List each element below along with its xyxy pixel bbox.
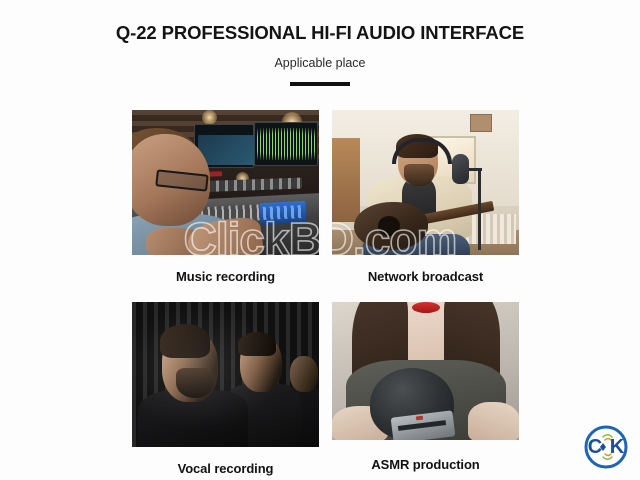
use-case-cell-music-recording: Music recording [132, 110, 319, 284]
mic-stand-shape [478, 168, 481, 250]
photo-vocal-recording [132, 302, 319, 447]
svg-text:C: C [588, 436, 602, 458]
caption-vocal-recording: Vocal recording [132, 447, 319, 476]
page-subtitle: Applicable place [0, 43, 640, 70]
grid-row-bottom: Vocal recording ASMR production [132, 302, 519, 476]
microphone-icon [452, 154, 469, 184]
room-door-shape [332, 138, 360, 222]
page-title: Q-22 PROFESSIONAL HI-FI AUDIO INTERFACE [0, 0, 640, 43]
blue-panel-buttons-shape [263, 205, 304, 220]
caption-music-recording: Music recording [132, 255, 319, 284]
asmr-right-hand-shape [468, 402, 519, 440]
waveform-thumbnail [198, 135, 256, 165]
title-accent-bar [290, 82, 350, 86]
caption-network-broadcast: Network broadcast [332, 255, 519, 284]
asmr-microphone-indicator-shape [416, 416, 423, 421]
asmr-lips-shape [412, 302, 440, 313]
photo-vignette-overlay [132, 302, 319, 447]
clickbd-logo-icon: C K [581, 422, 631, 472]
green-waveform-graphic [257, 128, 315, 160]
photo-music-recording [132, 110, 319, 255]
bokeh-light-icon [202, 110, 217, 125]
grid-row-top: Music recording [132, 110, 519, 284]
monitor-right-shape [254, 122, 318, 166]
guitar-soundhole-shape [378, 216, 400, 236]
use-case-cell-asmr-production: ASMR production [332, 302, 519, 476]
caption-asmr-production: ASMR production [332, 440, 519, 472]
clickbd-logo: C K [581, 422, 631, 472]
svg-text:K: K [610, 436, 625, 458]
use-case-grid: Music recording [132, 110, 519, 476]
photo-asmr-production [332, 302, 519, 440]
photo-network-broadcast [332, 110, 519, 255]
use-case-cell-vocal-recording: Vocal recording [132, 302, 319, 476]
performer-beard-shape [404, 164, 434, 186]
wall-picture-frame-shape [470, 114, 492, 132]
use-case-cell-network-broadcast: Network broadcast [332, 110, 519, 284]
page-header: Q-22 PROFESSIONAL HI-FI AUDIO INTERFACE … [0, 0, 640, 86]
